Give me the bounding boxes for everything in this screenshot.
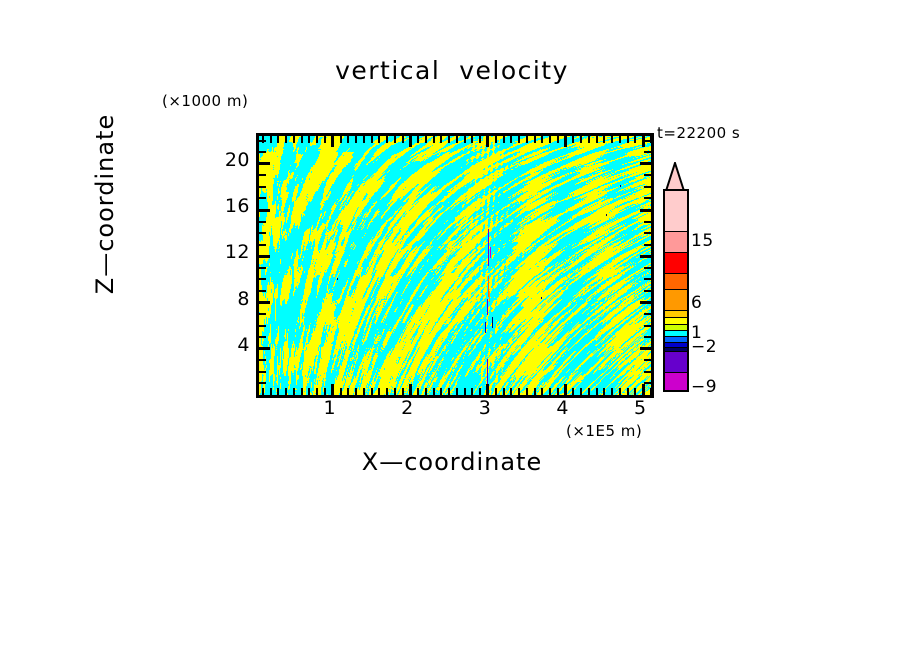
colorbar-band [665, 274, 687, 289]
tick-mark [644, 371, 651, 373]
tick-mark [557, 136, 559, 143]
tick-mark [564, 384, 567, 395]
tick-mark [534, 136, 536, 143]
tick-mark [259, 162, 270, 165]
tick-mark [644, 186, 651, 188]
tick-mark [308, 136, 310, 143]
tick-mark [644, 278, 651, 280]
x-axis-title: X—coordinate [256, 448, 648, 476]
y-tick-label: 16 [210, 195, 250, 217]
tick-mark [619, 136, 621, 143]
tick-mark [316, 388, 318, 395]
tick-mark [596, 136, 598, 143]
tick-mark [259, 232, 266, 234]
tick-mark [259, 174, 266, 176]
tick-mark [503, 388, 505, 395]
tick-mark [355, 388, 357, 395]
tick-mark [479, 388, 481, 395]
tick-mark [262, 388, 264, 395]
tick-mark [277, 136, 279, 143]
tick-mark [644, 174, 651, 176]
timestamp-annotation: t=22200 s [657, 124, 740, 142]
tick-mark [259, 197, 266, 199]
tick-mark [386, 388, 388, 395]
tick-mark [371, 136, 373, 143]
colorbar-band [665, 373, 687, 391]
tick-mark [402, 136, 404, 143]
tick-mark [378, 388, 380, 395]
tick-mark [572, 388, 574, 395]
y-tick-label: 4 [210, 334, 250, 356]
page-title: vertical velocity [0, 56, 904, 85]
tick-mark [355, 136, 357, 143]
tick-mark [518, 388, 520, 395]
tick-mark [644, 140, 651, 142]
tick-mark [644, 359, 651, 361]
tick-mark [640, 209, 651, 212]
x-tick-label: 4 [543, 397, 583, 419]
tick-mark [644, 313, 651, 315]
tick-mark [634, 136, 636, 143]
tick-mark [259, 209, 270, 212]
tick-mark [331, 384, 334, 395]
colorbar-tick-label: 6 [691, 293, 702, 313]
tick-mark [270, 388, 272, 395]
tick-mark [324, 136, 326, 143]
tick-mark [644, 232, 651, 234]
y-axis-unit-label: (×1000 m) [162, 92, 248, 110]
tick-mark [644, 290, 651, 292]
tick-mark [644, 197, 651, 199]
tick-mark [644, 325, 651, 327]
x-tick-label: 1 [310, 397, 350, 419]
tick-mark [471, 136, 473, 143]
tick-mark [285, 136, 287, 143]
tick-mark [479, 136, 481, 143]
tick-mark [541, 388, 543, 395]
tick-mark [347, 136, 349, 143]
tick-mark [456, 136, 458, 143]
tick-mark [270, 136, 272, 143]
colorbar-band [665, 290, 687, 310]
tick-mark [634, 388, 636, 395]
tick-mark [650, 388, 652, 395]
tick-mark [644, 221, 651, 223]
tick-mark [293, 388, 295, 395]
tick-mark [440, 136, 442, 143]
tick-mark [259, 255, 270, 258]
x-tick-label: 3 [465, 397, 505, 419]
tick-mark [456, 388, 458, 395]
tick-mark [644, 151, 651, 153]
tick-mark [526, 136, 528, 143]
colorbar-band [665, 232, 687, 252]
tick-mark [448, 388, 450, 395]
tick-mark [259, 347, 270, 350]
tick-mark [259, 325, 266, 327]
tick-mark [259, 290, 266, 292]
contour-field-canvas [259, 136, 651, 395]
tick-mark [627, 136, 629, 143]
x-axis-tick-labels: 12345 [256, 397, 648, 423]
tick-mark [363, 136, 365, 143]
tick-mark [495, 136, 497, 143]
colorbar-tick-labels: 1561−2−9 [691, 189, 751, 394]
tick-mark [644, 244, 651, 246]
x-axis-unit-label: (×1E5 m) [566, 422, 642, 440]
tick-mark [640, 162, 651, 165]
y-axis-title: Z—coordinate [91, 89, 119, 319]
tick-mark [464, 388, 466, 395]
tick-mark [572, 136, 574, 143]
tick-mark [603, 136, 605, 143]
tick-mark [425, 136, 427, 143]
tick-mark [340, 388, 342, 395]
colorbar-band [665, 191, 687, 231]
tick-mark [557, 388, 559, 395]
tick-mark [259, 382, 266, 384]
plot-area [256, 133, 654, 398]
tick-mark [402, 388, 404, 395]
tick-mark [259, 151, 266, 153]
tick-mark [433, 388, 435, 395]
tick-mark [394, 136, 396, 143]
tick-mark [596, 388, 598, 395]
tick-mark [503, 136, 505, 143]
colorbar-tick-label: 15 [691, 231, 714, 251]
tick-mark [259, 359, 266, 361]
tick-mark [644, 336, 651, 338]
tick-mark [510, 388, 512, 395]
tick-mark [640, 255, 651, 258]
tick-mark [588, 388, 590, 395]
tick-mark [518, 136, 520, 143]
tick-mark [642, 384, 645, 395]
y-tick-label: 20 [210, 149, 250, 171]
tick-mark [549, 136, 551, 143]
tick-mark [363, 388, 365, 395]
tick-mark [285, 388, 287, 395]
tick-mark [644, 267, 651, 269]
tick-mark [603, 388, 605, 395]
tick-mark [440, 388, 442, 395]
tick-mark [340, 136, 342, 143]
tick-mark [259, 313, 266, 315]
colorbar-band [665, 253, 687, 273]
tick-mark [259, 140, 266, 142]
tick-mark [316, 136, 318, 143]
tick-mark [611, 388, 613, 395]
tick-mark [259, 301, 270, 304]
tick-mark [425, 388, 427, 395]
tick-mark [640, 347, 651, 350]
tick-mark [541, 136, 543, 143]
tick-mark [301, 388, 303, 395]
tick-mark [464, 136, 466, 143]
tick-mark [619, 388, 621, 395]
tick-mark [486, 136, 489, 147]
tick-mark [331, 136, 334, 147]
tick-mark [259, 186, 266, 188]
tick-mark [549, 388, 551, 395]
x-tick-label: 5 [620, 397, 660, 419]
tick-mark [580, 136, 582, 143]
tick-mark [277, 388, 279, 395]
tick-mark [471, 388, 473, 395]
tick-mark [495, 388, 497, 395]
tick-mark [394, 388, 396, 395]
tick-mark [644, 382, 651, 384]
tick-mark [564, 136, 567, 147]
tick-mark [378, 136, 380, 143]
tick-mark [259, 221, 266, 223]
tick-mark [308, 388, 310, 395]
tick-mark [611, 136, 613, 143]
tick-mark [301, 136, 303, 143]
tick-mark [324, 388, 326, 395]
tick-mark [433, 136, 435, 143]
tick-mark [259, 244, 266, 246]
colorbar-tick-label: −9 [691, 377, 717, 397]
tick-mark [347, 388, 349, 395]
tick-mark [640, 301, 651, 304]
y-axis-tick-labels: 48121620 [206, 133, 250, 392]
tick-mark [526, 388, 528, 395]
tick-mark [417, 388, 419, 395]
tick-mark [448, 136, 450, 143]
tick-mark [588, 136, 590, 143]
y-tick-label: 12 [210, 241, 250, 263]
x-tick-label: 2 [387, 397, 427, 419]
tick-mark [259, 371, 266, 373]
y-tick-label: 8 [210, 288, 250, 310]
tick-mark [371, 388, 373, 395]
tick-mark [293, 136, 295, 143]
tick-mark [534, 388, 536, 395]
tick-mark [409, 136, 412, 147]
tick-mark [510, 136, 512, 143]
colorbar-arrow-icon [661, 162, 689, 192]
colorbar [663, 189, 689, 392]
tick-mark [259, 278, 266, 280]
colorbar-tick-label: −2 [691, 337, 717, 357]
tick-mark [627, 388, 629, 395]
tick-mark [259, 336, 266, 338]
tick-mark [386, 136, 388, 143]
colorbar-band [665, 352, 687, 372]
tick-mark [486, 384, 489, 395]
tick-mark [259, 267, 266, 269]
tick-mark [417, 136, 419, 143]
tick-mark [409, 384, 412, 395]
tick-mark [580, 388, 582, 395]
